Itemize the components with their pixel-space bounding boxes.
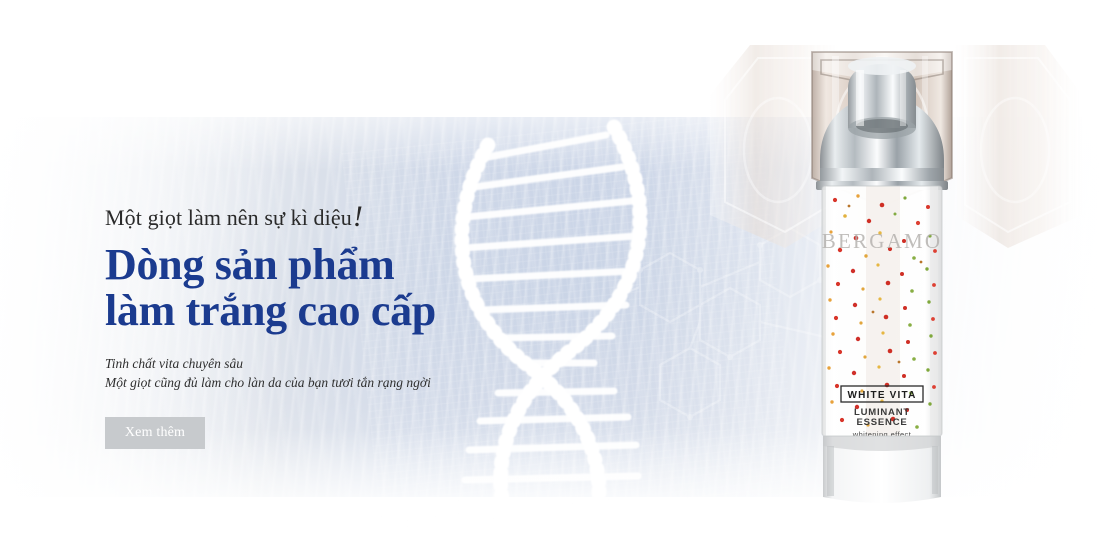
subtitle-line-1: Tinh chất vita chuyên sâu [105, 354, 505, 374]
exclamation-mark: ! [352, 200, 363, 233]
subtitle-line-2: Một giọt cũng đủ làm cho làn da của bạn … [105, 373, 505, 393]
product-bottle-image: BERGAMO WHITE VITA LUMINANT ESSENCE whit… [690, 0, 1100, 520]
read-more-button[interactable]: Xem thêm [105, 417, 205, 449]
label-white-vita: WHITE VITA [847, 390, 916, 401]
eyebrow-text: Một giọt làm nên sự kì diệu! [105, 198, 505, 236]
eyebrow-label: Một giọt làm nên sự kì diệu [105, 205, 352, 230]
page-title: Dòng sản phẩm làm trắng cao cấp [105, 242, 505, 334]
promo-banner: BERGAMO WHITE VITA LUMINANT ESSENCE whit… [0, 0, 1100, 547]
bottle-brand-text: BERGAMO [822, 229, 942, 253]
headline-line-2: làm trắng cao cấp [105, 288, 505, 334]
label-essence: ESSENCE [856, 417, 907, 428]
subtitle-block: Tinh chất vita chuyên sâu Một giọt cũng … [105, 354, 505, 393]
headline-line-1: Dòng sản phẩm [105, 240, 395, 289]
banner-copy: Một giọt làm nên sự kì diệu! Dòng sản ph… [105, 198, 505, 449]
